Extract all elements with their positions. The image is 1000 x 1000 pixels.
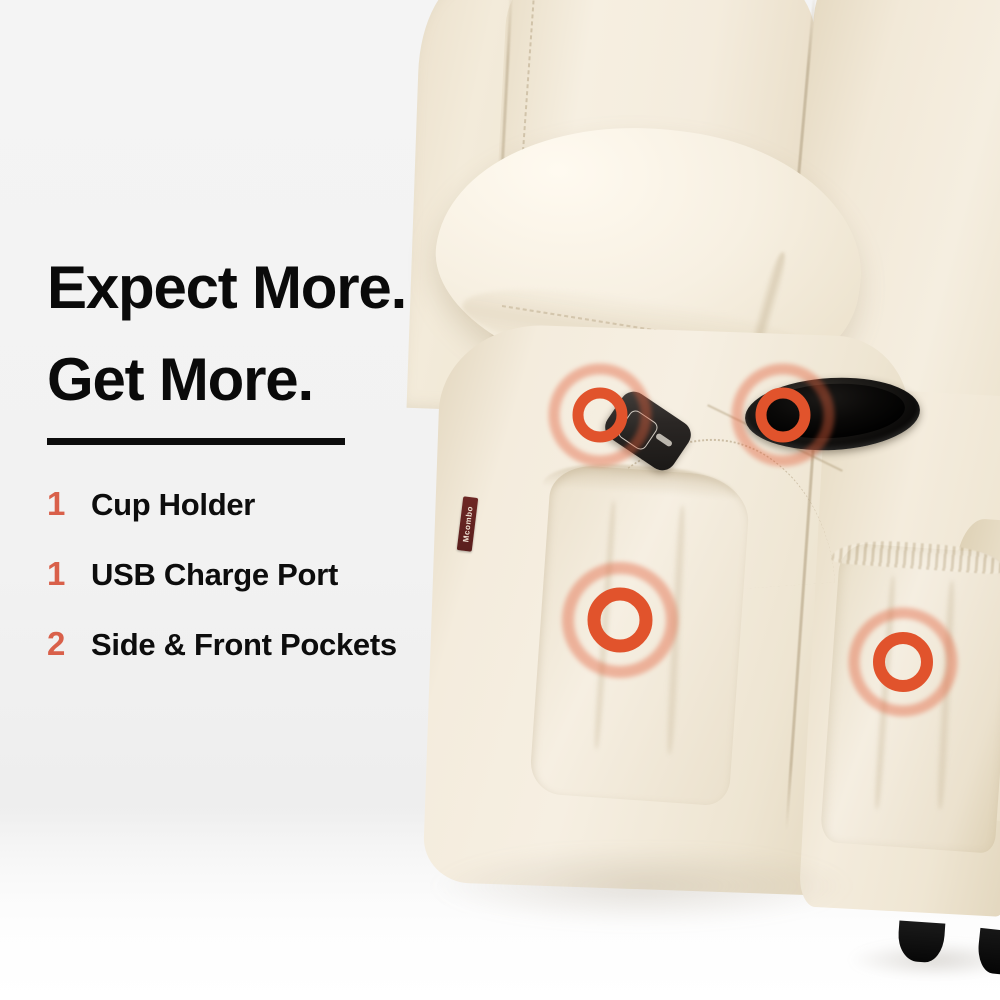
feature-count: 1 — [47, 557, 91, 590]
feature-row: 1USB Charge Port — [47, 557, 467, 627]
feature-marker-front-pocket[interactable] — [854, 613, 952, 711]
feature-label: USB Charge Port — [91, 559, 338, 590]
feature-row: 2Side & Front Pockets — [47, 627, 467, 697]
feature-marker-cup-holder[interactable] — [737, 369, 829, 461]
feature-label: Side & Front Pockets — [91, 629, 397, 660]
feature-marker-usb-charge-port[interactable] — [554, 369, 646, 461]
feature-marker-side-pocket[interactable] — [568, 568, 672, 672]
marker-core-ring — [588, 588, 653, 653]
headline-divider-rule — [47, 438, 345, 445]
headline-line-1: Expect More. — [47, 258, 406, 318]
feature-row: 1Cup Holder — [47, 487, 467, 557]
console-bottom-shadow — [430, 850, 900, 940]
product-feature-image: Mcombo Expect More. Get More. 1Cup Holde… — [0, 0, 1000, 1000]
feature-label: Cup Holder — [91, 489, 255, 520]
feature-count: 1 — [47, 487, 91, 520]
feature-count: 2 — [47, 627, 91, 660]
feature-list: 1Cup Holder1USB Charge Port2Side & Front… — [47, 487, 467, 697]
marker-core-ring — [573, 388, 628, 443]
headline-line-2: Get More. — [47, 350, 313, 410]
marker-core-ring — [873, 632, 933, 692]
marker-core-ring — [756, 388, 811, 443]
